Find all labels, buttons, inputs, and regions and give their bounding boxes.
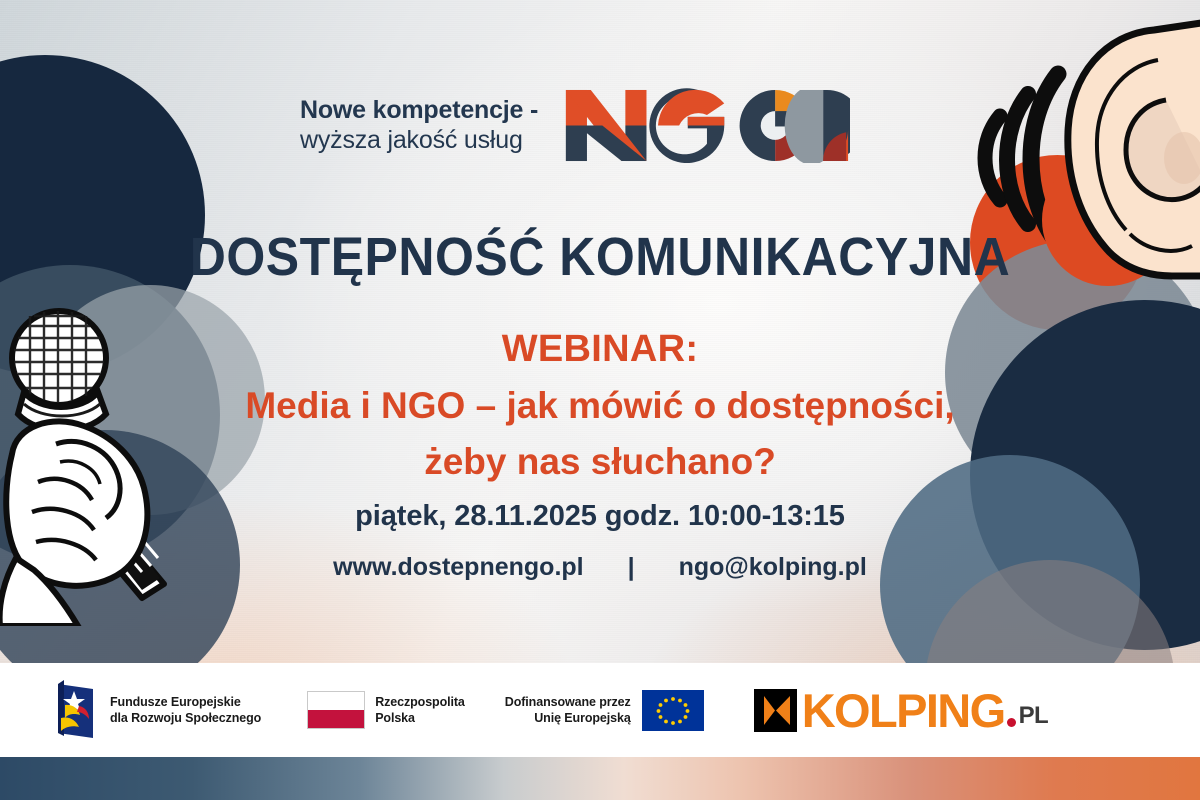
poster-canvas: Nowe kompetencje - wyższa jakość usług	[0, 0, 1200, 800]
event-datetime: piątek, 28.11.2025 godz. 10:00-13:15	[0, 500, 1200, 533]
ngo-letter-g	[649, 88, 724, 163]
bottom-gradient-strip	[0, 757, 1200, 800]
kolping-k-mark-icon	[754, 689, 797, 732]
webinar-title: Media i NGO – jak mówić o dostępności, ż…	[60, 378, 1140, 490]
ngo-leaf-mark	[785, 90, 850, 163]
eu-cofunding-line1: Dofinansowane przez	[505, 694, 631, 711]
webinar-title-line1: Media i NGO – jak mówić o dostępności,	[60, 378, 1140, 434]
eu-cofunding-label: Dofinansowane przez Unię Europejską	[505, 694, 631, 727]
ngo-logo-mark	[562, 88, 850, 163]
republic-label: Rzeczpospolita Polska	[375, 694, 465, 727]
program-logo-lockup: Nowe kompetencje - wyższa jakość usług	[300, 88, 850, 163]
eu-funds-line2: dla Rozwoju Społecznego	[110, 710, 261, 727]
european-union-flag-icon	[642, 690, 704, 731]
poland-flag-red	[308, 710, 364, 728]
eu-cofunding-group: Dofinansowane przez Unię Europejską	[505, 690, 704, 731]
funding-footer: Fundusze Europejskie dla Rozwoju Społecz…	[0, 663, 1200, 757]
ngo-logo-svg	[562, 88, 850, 163]
kolping-k-svg	[759, 694, 792, 727]
eu-funds-label: Fundusze Europejskie dla Rozwoju Społecz…	[110, 694, 261, 727]
program-tagline: Nowe kompetencje - wyższa jakość usług	[300, 96, 538, 155]
webinar-label: WEBINAR:	[0, 328, 1200, 371]
eu-funds-logo-group: Fundusze Europejskie dla Rozwoju Społecz…	[52, 680, 261, 740]
republic-logo-group: Rzeczpospolita Polska	[307, 691, 465, 729]
kolping-wordmark: KOLPING	[802, 687, 1005, 734]
contact-separator: |	[628, 553, 635, 582]
program-tagline-line2: wyższa jakość usług	[300, 126, 538, 156]
republic-line2: Polska	[375, 710, 465, 727]
kolping-dot	[1007, 718, 1016, 727]
ngo-letter-n	[566, 90, 647, 161]
webinar-title-line2: żeby nas słuchano?	[60, 434, 1140, 490]
eu-funds-flag-icon	[52, 680, 99, 740]
kolping-tld: PL	[1019, 702, 1048, 730]
contact-row: www.dostepnengo.pl | ngo@kolping.pl	[0, 553, 1200, 582]
email-link[interactable]: ngo@kolping.pl	[679, 553, 867, 582]
kolping-logo: KOLPING PL	[754, 687, 1048, 734]
poland-flag-icon	[307, 691, 365, 729]
poland-flag-white	[308, 692, 364, 710]
republic-line1: Rzeczpospolita	[375, 694, 465, 711]
website-link[interactable]: www.dostepnengo.pl	[333, 553, 583, 582]
eu-funds-line1: Fundusze Europejskie	[110, 694, 261, 711]
page-title: DOSTĘPNOŚĆ KOMUNIKACYJNA	[0, 226, 1200, 288]
eu-cofunding-line2: Unię Europejską	[505, 710, 631, 727]
program-tagline-line1: Nowe kompetencje -	[300, 96, 538, 126]
